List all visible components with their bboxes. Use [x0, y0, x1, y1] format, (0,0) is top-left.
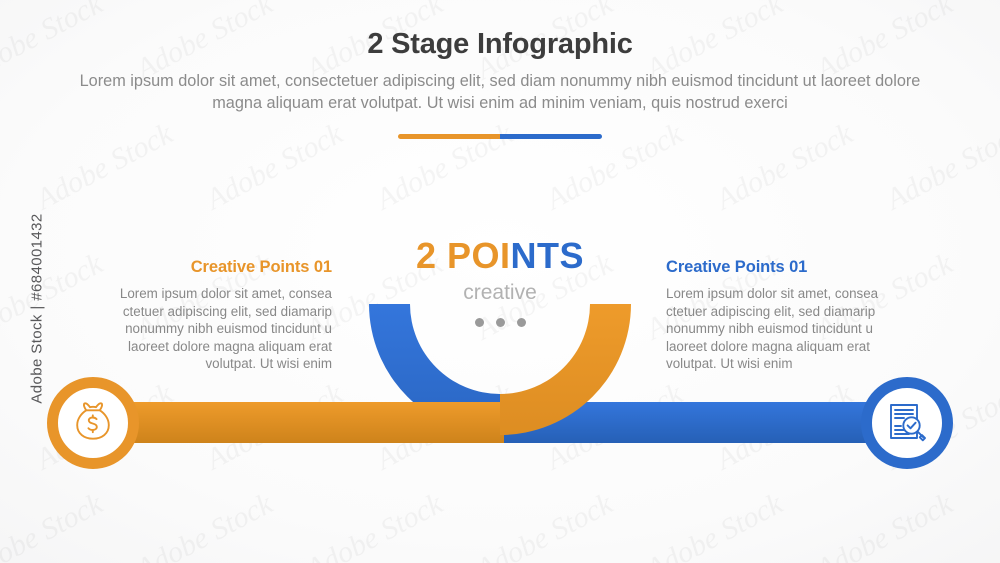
stage-left-body: Lorem ipsum dolor sit amet, consea ctetu…: [100, 285, 332, 373]
stage-right-icon-node[interactable]: [861, 377, 953, 469]
adobe-stock-watermark: Adobe Stock | #684001432: [29, 209, 46, 409]
stage-right-body: Lorem ipsum dolor sit amet, consea ctetu…: [666, 285, 898, 373]
stage-left-title: Creative Points 01: [100, 258, 332, 277]
document-search-check-icon: [884, 400, 930, 446]
money-bag-icon: [71, 400, 115, 446]
stage-right-text-block: Creative Points 01 Lorem ipsum dolor sit…: [666, 258, 898, 373]
stage-right-title: Creative Points 01: [666, 258, 898, 277]
stage-left-text-block: Creative Points 01 Lorem ipsum dolor sit…: [100, 258, 332, 373]
infographic-canvas: Adobe StockAdobe StockAdobe StockAdobe S…: [0, 0, 1000, 563]
stage-left-icon-node[interactable]: [47, 377, 139, 469]
connector-bar-orange: [100, 402, 504, 443]
